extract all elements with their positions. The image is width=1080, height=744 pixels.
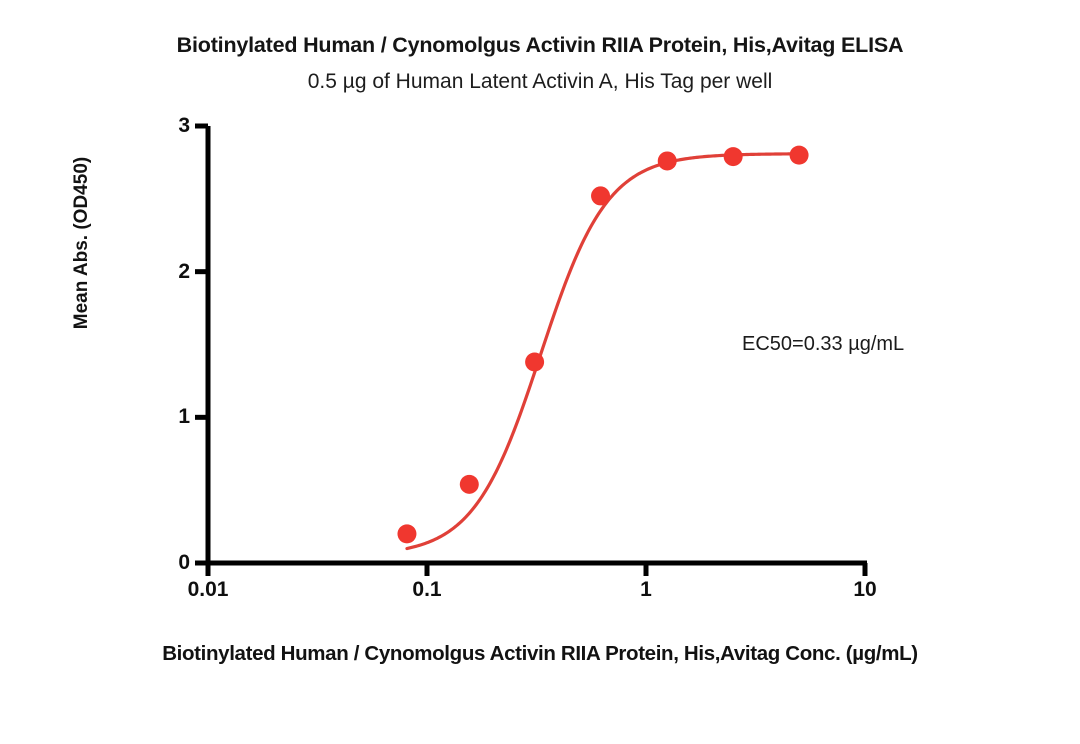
data-point <box>658 151 677 170</box>
data-point <box>397 524 416 543</box>
y-tick-label: 0 <box>150 551 190 575</box>
data-point <box>591 186 610 205</box>
data-point <box>460 475 479 494</box>
data-point <box>525 352 544 371</box>
y-tick-label: 2 <box>150 260 190 284</box>
plot-area <box>0 0 1080 744</box>
data-point <box>724 147 743 166</box>
x-tick-label: 0.1 <box>412 578 441 602</box>
chart-figure: Biotinylated Human / Cynomolgus Activin … <box>0 0 1080 744</box>
x-tick-label: 0.01 <box>188 578 229 602</box>
x-tick-label: 1 <box>640 578 652 602</box>
y-tick-label: 3 <box>150 114 190 138</box>
x-tick-label: 10 <box>853 578 876 602</box>
ec50-annotation: EC50=0.33 µg/mL <box>742 333 904 356</box>
data-point <box>790 146 809 165</box>
y-tick-label: 1 <box>150 405 190 429</box>
